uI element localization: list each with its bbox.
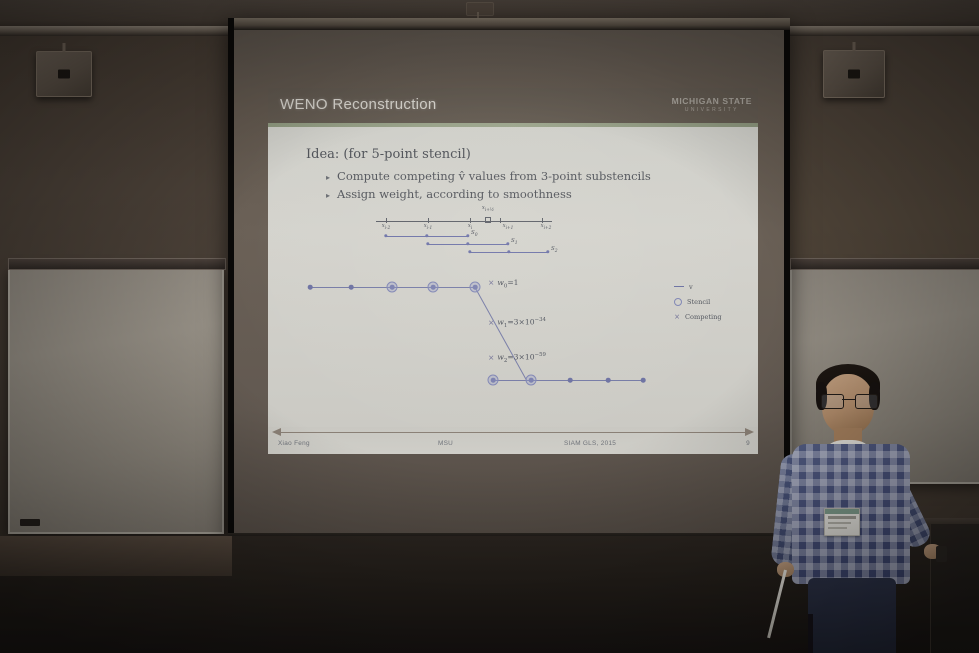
substencil-label: S1 — [511, 238, 518, 246]
ceiling-vent — [466, 2, 494, 16]
axis-label: xi+2 — [541, 223, 552, 231]
speaker-grill-icon — [848, 70, 860, 79]
data-point — [308, 285, 313, 290]
slide-title: WENO Reconstruction — [280, 96, 437, 113]
trousers — [808, 578, 896, 653]
front-desk — [0, 536, 232, 576]
plot-discontinuity-jump — [474, 287, 527, 381]
stencil-point-ring — [387, 282, 398, 293]
weight-annotation-1: ×w1=3×10−34 — [488, 317, 546, 329]
glasses-bridge — [842, 399, 855, 400]
presenter — [766, 356, 941, 653]
data-point — [568, 378, 573, 383]
bullet-text: Assign weight, according to smoothness — [337, 187, 572, 201]
arrow-left-icon — [272, 428, 281, 436]
slide-footer: Xiao Feng MSU SIAM GLS, 2015 9 — [268, 427, 758, 454]
competing-cross-icon: × — [488, 278, 494, 287]
cross-marker-icon: × — [674, 314, 680, 320]
data-point — [606, 378, 611, 383]
bullet-item: ▸ Assign weight, according to smoothness — [326, 187, 651, 201]
competing-cross-icon: × — [488, 353, 494, 362]
remote-clicker — [936, 546, 947, 562]
msu-logo-line2: UNIVERSITY — [672, 107, 752, 113]
lecture-hall-photo: WENO Reconstruction MICHIGAN STATE UNIVE… — [0, 0, 979, 653]
whiteboard-eraser — [20, 519, 40, 526]
badge-band — [825, 509, 859, 514]
glasses-icon — [821, 394, 876, 407]
speaker-mount-right — [853, 42, 856, 51]
bullet-triangle-icon: ▸ — [326, 191, 330, 200]
speaker-mount-left — [63, 43, 66, 52]
weno-step-plot: ×w0=1 ×w1=3×10−34 ×w2=3×10−59 — [298, 267, 698, 397]
whiteboard-tray-right — [790, 258, 979, 270]
legend-entry-competing: × Competing — [674, 309, 752, 324]
substencil-point — [506, 242, 509, 245]
projected-slide: WENO Reconstruction MICHIGAN STATE UNIVE… — [268, 88, 758, 454]
badge-detail-line — [828, 527, 847, 529]
footer-progress-line — [276, 432, 750, 433]
bullet-list: ▸ Compute competing v̂ values from 3-poi… — [326, 169, 651, 205]
substencil-point — [426, 242, 429, 245]
pointer-stick — [768, 570, 802, 640]
name-badge — [824, 508, 860, 536]
competing-cross-icon: × — [488, 318, 494, 327]
wall-speaker-right — [823, 50, 885, 98]
badge-detail-line — [828, 522, 851, 524]
glasses-lens-left — [821, 394, 844, 409]
axis-label: xi-1 — [424, 223, 433, 231]
whiteboard-left — [8, 268, 224, 534]
data-point — [349, 285, 354, 290]
circle-marker-icon — [674, 298, 682, 306]
stencil-axis — [376, 221, 552, 222]
wall-speaker-left — [36, 51, 92, 97]
footer-author: Xiao Feng — [278, 440, 310, 447]
pointer-shaft — [767, 570, 787, 639]
half-point-marker — [485, 217, 491, 223]
plot-legend: v Stencil × Competing — [674, 279, 752, 324]
axis-label: xi-2 — [382, 223, 391, 231]
axis-tick — [500, 218, 501, 223]
bullet-text: Compute competing v̂ values from 3-point… — [337, 169, 651, 183]
stencil-point-ring — [470, 282, 481, 293]
bullet-triangle-icon: ▸ — [326, 173, 330, 182]
substencil-point — [425, 234, 428, 237]
legend-label: Stencil — [687, 298, 710, 306]
legend-label: v — [689, 283, 693, 291]
weight-annotation-0: ×w0=1 — [488, 278, 519, 290]
stencil-point-ring — [526, 375, 537, 386]
speaker-grill-icon — [58, 70, 70, 79]
footer-page-number: 9 — [746, 440, 750, 447]
footer-venue: SIAM GLS, 2015 — [564, 440, 616, 447]
glasses-lens-right — [855, 394, 878, 409]
weight-annotation-2: ×w2=3×10−59 — [488, 352, 546, 364]
slide-header: WENO Reconstruction MICHIGAN STATE UNIVE… — [268, 88, 758, 124]
idea-line: Idea: (for 5-point stencil) — [306, 147, 471, 162]
stencil-diagram: xi-2 xi-1 xi xi+1 xi+2 xi+½ S0 S1 — [368, 203, 560, 259]
substencil-label: S2 — [551, 246, 558, 254]
substencil-label: S0 — [471, 230, 478, 238]
substencil-point — [466, 242, 469, 245]
msu-logo: MICHIGAN STATE UNIVERSITY — [672, 96, 752, 113]
half-point-label: xi+½ — [482, 205, 494, 213]
msu-logo-line1: MICHIGAN STATE — [672, 96, 752, 106]
substencil-point — [507, 250, 510, 253]
leg-gap — [808, 614, 813, 653]
legend-entry-stencil: Stencil — [674, 294, 752, 309]
substencil-point — [468, 250, 471, 253]
axis-label: xi+1 — [503, 223, 514, 231]
substencil-point — [466, 234, 469, 237]
line-marker-icon — [674, 286, 684, 287]
slide-body: Idea: (for 5-point stencil) ▸ Compute co… — [268, 127, 758, 427]
screen-top-roller — [234, 18, 790, 30]
stencil-point-ring — [428, 282, 439, 293]
legend-label: Competing — [685, 313, 722, 321]
badge-name-line — [828, 516, 856, 519]
arrow-right-icon — [745, 428, 754, 436]
footer-affiliation: MSU — [438, 440, 453, 447]
legend-entry-v: v — [674, 279, 752, 294]
whiteboard-tray-left — [8, 258, 226, 270]
bullet-item: ▸ Compute competing v̂ values from 3-poi… — [326, 169, 651, 183]
data-point — [641, 378, 646, 383]
stencil-point-ring — [488, 375, 499, 386]
substencil-point — [546, 250, 549, 253]
substencil-point — [384, 234, 387, 237]
